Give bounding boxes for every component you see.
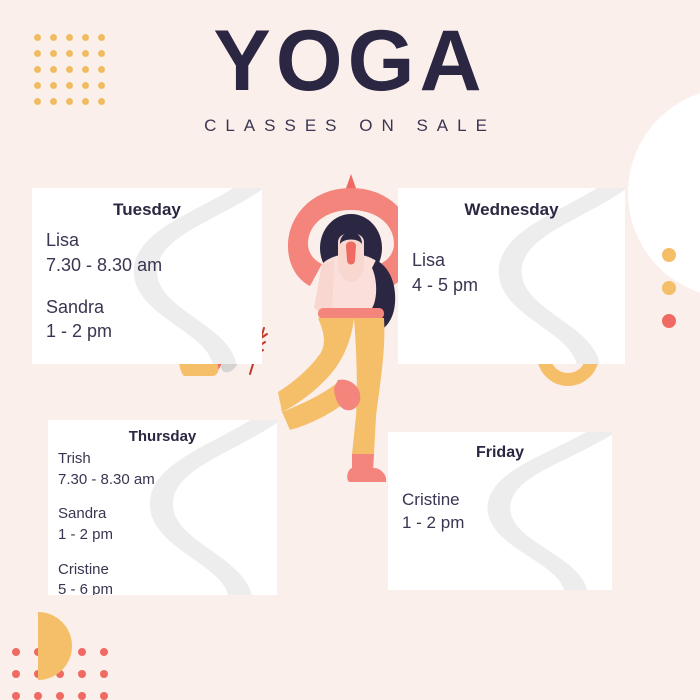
slot-list: Trish 7.30 - 8.30 am Sandra 1 - 2 pm Cri… <box>48 449 277 595</box>
card-day-label: Wednesday <box>398 200 625 220</box>
slot-instructor: Trish <box>58 449 277 470</box>
dot <box>100 670 108 678</box>
dot <box>34 692 42 700</box>
yoga-poster: YOGA CLASSES ON SALE <box>0 0 700 700</box>
page-title: YOGA <box>0 18 700 106</box>
side-dots-decoration <box>662 248 676 328</box>
slot-item: Lisa 4 - 5 pm <box>412 248 625 298</box>
slot-item: Lisa 7.30 - 8.30 am <box>46 228 262 278</box>
slot-list: Cristine 1 - 2 pm <box>388 468 612 535</box>
dot <box>662 281 676 295</box>
schedule-card-friday[interactable]: Friday Cristine 1 - 2 pm <box>388 432 612 590</box>
card-day-label: Friday <box>388 444 612 462</box>
card-day-label: Tuesday <box>32 200 262 220</box>
slot-item: Sandra 1 - 2 pm <box>46 295 262 345</box>
slot-list: Lisa 4 - 5 pm <box>398 228 625 298</box>
schedule-card-tuesday[interactable]: Tuesday Lisa 7.30 - 8.30 am Sandra 1 - 2… <box>32 188 262 364</box>
dot <box>100 648 108 656</box>
slot-instructor: Lisa <box>412 248 625 273</box>
dot <box>12 670 20 678</box>
dot <box>56 692 64 700</box>
slot-item: Trish 7.30 - 8.30 am <box>58 449 277 490</box>
dot <box>78 648 86 656</box>
slot-list: Lisa 7.30 - 8.30 am Sandra 1 - 2 pm <box>32 228 262 344</box>
slot-instructor: Sandra <box>46 295 262 320</box>
slot-time: 1 - 2 pm <box>402 511 612 534</box>
slot-time: 5 - 6 pm <box>58 580 277 595</box>
slot-item: Sandra 1 - 2 pm <box>58 504 277 545</box>
slot-item: Cristine 5 - 6 pm <box>58 560 277 595</box>
page-subtitle: CLASSES ON SALE <box>0 116 700 136</box>
dot <box>100 692 108 700</box>
slot-time: 4 - 5 pm <box>412 273 625 298</box>
slot-instructor: Sandra <box>58 504 277 525</box>
dot <box>12 692 20 700</box>
dot <box>12 648 20 656</box>
slot-time: 7.30 - 8.30 am <box>46 253 262 278</box>
dot <box>662 248 676 262</box>
slot-instructor: Lisa <box>46 228 262 253</box>
poster-header: YOGA CLASSES ON SALE <box>0 18 700 136</box>
slot-time: 7.30 - 8.30 am <box>58 470 277 491</box>
card-day-label: Thursday <box>48 428 277 445</box>
schedule-card-wednesday[interactable]: Wednesday Lisa 4 - 5 pm <box>398 188 625 364</box>
dot <box>78 692 86 700</box>
dot <box>78 670 86 678</box>
slot-item: Cristine 1 - 2 pm <box>402 488 612 535</box>
schedule-card-thursday[interactable]: Thursday Trish 7.30 - 8.30 am Sandra 1 -… <box>48 420 277 595</box>
slot-instructor: Cristine <box>402 488 612 511</box>
slot-time: 1 - 2 pm <box>46 319 262 344</box>
slot-time: 1 - 2 pm <box>58 525 277 546</box>
dot <box>662 314 676 328</box>
slot-instructor: Cristine <box>58 560 277 581</box>
